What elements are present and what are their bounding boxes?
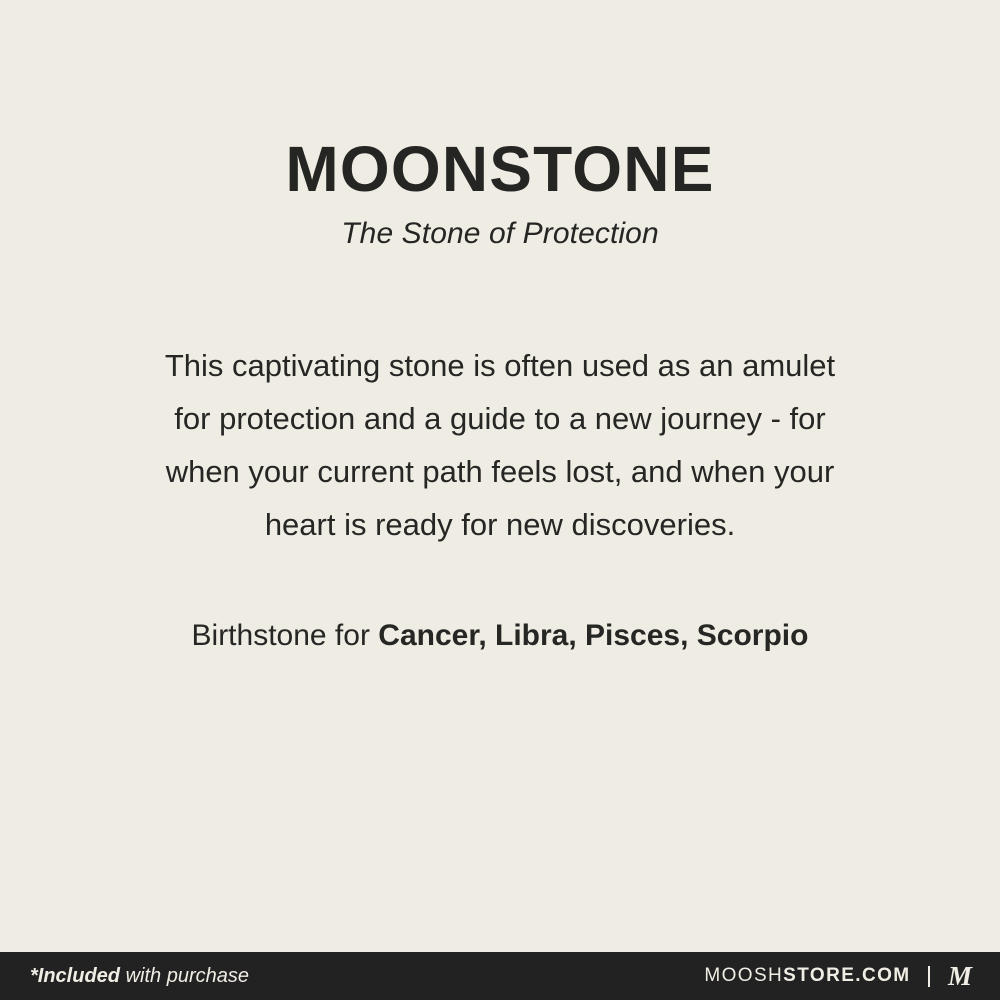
purchase-note-emphasis: *Included [30,965,120,987]
description-text: This captivating stone is often used as … [150,339,850,551]
card-content: MOONSTONE The Stone of Protection This c… [0,0,1000,952]
birthstone-line: Birthstone for Cancer, Libra, Pisces, Sc… [150,609,850,662]
birthstone-signs: Cancer, Libra, Pisces, Scorpio [378,619,808,652]
brand-group: MOOSHSTORE.COM M [704,961,978,992]
product-info-card: MOONSTONE The Stone of Protection This c… [0,0,1000,1000]
birthstone-label: Birthstone for [192,619,379,652]
vertical-divider [928,966,930,987]
purchase-note: *Included with purchase [30,965,249,988]
brand-url-light: MOOSH [704,965,783,986]
brand-url[interactable]: MOOSHSTORE.COM [704,965,910,987]
footer-bar: *Included with purchase MOOSHSTORE.COM M [0,952,1000,1000]
page-subtitle: The Stone of Protection [341,217,659,251]
purchase-note-rest: with purchase [120,965,249,987]
brand-url-bold: STORE.COM [783,965,910,986]
monogram-logo-icon: M [948,961,978,992]
page-title: MOONSTONE [285,136,714,203]
